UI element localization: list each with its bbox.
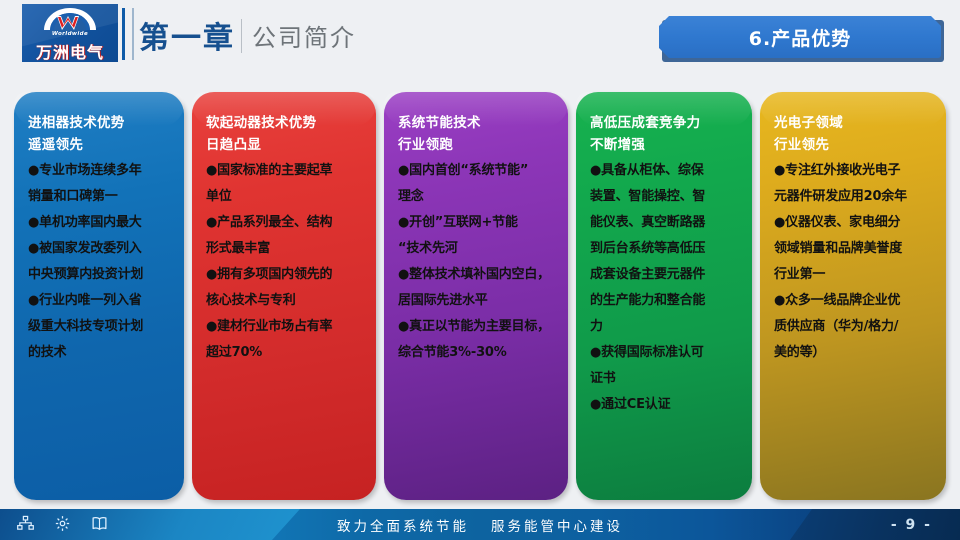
card-line: 综合节能3%-30%	[398, 340, 556, 366]
card-optoelectronics[interactable]: 光电子领域 行业领先 ●专注红外接收光电子 元器件研发应用20余年 ●仪器仪表、…	[760, 92, 946, 500]
card-line: ●仪器仪表、家电细分	[774, 210, 934, 236]
card-line: 领域销量和品牌美誉度	[774, 236, 934, 262]
card-line: ●国家标准的主要起草	[206, 158, 364, 184]
card-line: ●具备从柜体、综保	[590, 158, 740, 184]
card-body: ●具备从柜体、综保 装置、智能操控、智 能仪表、真空断路器 到后台系统等高低压 …	[590, 158, 740, 418]
card-title-line1: 系统节能技术	[398, 112, 556, 134]
card-line: 证书	[590, 366, 740, 392]
card-system-saving[interactable]: 系统节能技术 行业领跑 ●国内首创“系统节能” 理念 ●开创”互联网+节能 “技…	[384, 92, 568, 500]
section-title-plate: 6.产品优势	[659, 16, 941, 58]
card-line: ●国内首创“系统节能”	[398, 158, 556, 184]
card-line: 美的等）	[774, 340, 934, 366]
card-line: ●开创”互联网+节能	[398, 210, 556, 236]
card-line: ●产品系列最全、结构	[206, 210, 364, 236]
title-plate-face: 6.产品优势	[659, 16, 941, 58]
card-body: ●专注红外接收光电子 元器件研发应用20余年 ●仪器仪表、家电细分 领域销量和品…	[774, 158, 934, 366]
card-line: 的技术	[28, 340, 172, 366]
chapter-title: 第一章	[139, 13, 235, 57]
card-title-line2: 日趋凸显	[206, 134, 364, 156]
card-line: “技术先河	[398, 236, 556, 262]
chapter-subtitle: 公司简介	[252, 18, 356, 53]
card-line: 能仪表、真空断路器	[590, 210, 740, 236]
card-line: 到后台系统等高低压	[590, 236, 740, 262]
card-line: 级重大科技专项计划	[28, 314, 172, 340]
footer-slogan: 致力全面系统节能 服务能管中心建设	[0, 509, 960, 540]
card-title-line1: 光电子领域	[774, 112, 934, 134]
card-line: 中央预算内投资计划	[28, 262, 172, 288]
card-line: 形式最丰富	[206, 236, 364, 262]
chapter-separator	[241, 19, 242, 53]
advantage-cards: 进相器技术优势 遥遥领先 ●专业市场连续多年 销量和口碑第一 ●单机功率国内最大…	[0, 92, 960, 500]
card-line: ●拥有多项国内领先的	[206, 262, 364, 288]
card-body: ●国内首创“系统节能” 理念 ●开创”互联网+节能 “技术先河 ●整体技术填补国…	[398, 158, 556, 366]
header-divider	[122, 8, 134, 60]
card-line: 销量和口碑第一	[28, 184, 172, 210]
card-line: 行业第一	[774, 262, 934, 288]
card-line: ●单机功率国内最大	[28, 210, 172, 236]
card-line: ●专注红外接收光电子	[774, 158, 934, 184]
card-body: ●国家标准的主要起草 单位 ●产品系列最全、结构 形式最丰富 ●拥有多项国内领先…	[206, 158, 364, 366]
card-title-line2: 遥遥领先	[28, 134, 172, 156]
card-line: 核心技术与专利	[206, 288, 364, 314]
card-line: 元器件研发应用20余年	[774, 184, 934, 210]
card-line: 居国际先进水平	[398, 288, 556, 314]
slide-footer: 致力全面系统节能 服务能管中心建设 - 9 -	[0, 509, 960, 540]
card-line: ●众多一线品牌企业优	[774, 288, 934, 314]
card-line: 的生产能力和整合能	[590, 288, 740, 314]
card-phase-shifter[interactable]: 进相器技术优势 遥遥领先 ●专业市场连续多年 销量和口碑第一 ●单机功率国内最大…	[14, 92, 184, 500]
card-line: ●获得国际标准认可	[590, 340, 740, 366]
card-line: ●真正以节能为主要目标，	[398, 314, 556, 340]
footer-slogan-right: 服务能管中心建设	[491, 515, 623, 535]
card-line: ●通过CE认证	[590, 392, 740, 418]
card-line: 理念	[398, 184, 556, 210]
card-line: 成套设备主要元器件	[590, 262, 740, 288]
card-body: ●专业市场连续多年 销量和口碑第一 ●单机功率国内最大 ●被国家发改委列入 中央…	[28, 158, 172, 366]
card-title-line1: 高低压成套竞争力	[590, 112, 740, 134]
card-title-line1: 进相器技术优势	[28, 112, 172, 134]
card-switchgear[interactable]: 高低压成套竞争力 不断增强 ●具备从柜体、综保 装置、智能操控、智 能仪表、真空…	[576, 92, 752, 500]
logo-company-name: 万洲电气	[22, 39, 118, 62]
card-line: 力	[590, 314, 740, 340]
logo-subtext: Worldwide	[22, 31, 118, 37]
card-line: ●被国家发改委列入	[28, 236, 172, 262]
card-line: ●整体技术填补国内空白，	[398, 262, 556, 288]
card-title-line1: 软起动器技术优势	[206, 112, 364, 134]
card-line: ●专业市场连续多年	[28, 158, 172, 184]
company-logo: Worldwide 万洲电气	[22, 4, 118, 62]
card-title-line2: 行业领先	[774, 134, 934, 156]
page-number: - 9 -	[891, 509, 932, 540]
card-line: 超过70%	[206, 340, 364, 366]
card-title-line2: 行业领跑	[398, 134, 556, 156]
card-line: ●行业内唯一列入省	[28, 288, 172, 314]
card-title-line2: 不断增强	[590, 134, 740, 156]
card-line: 质供应商（华为/格力/	[774, 314, 934, 340]
card-line: 单位	[206, 184, 364, 210]
slide-header: Worldwide 万洲电气 第一章 公司简介 6.产品优势	[0, 0, 960, 78]
section-title-text: 6.产品优势	[749, 24, 851, 51]
w-arc-logo-icon	[41, 8, 99, 32]
footer-slogan-left: 致力全面系统节能	[337, 515, 469, 535]
card-soft-starter[interactable]: 软起动器技术优势 日趋凸显 ●国家标准的主要起草 单位 ●产品系列最全、结构 形…	[192, 92, 376, 500]
card-line: 装置、智能操控、智	[590, 184, 740, 210]
card-line: ●建材行业市场占有率	[206, 314, 364, 340]
